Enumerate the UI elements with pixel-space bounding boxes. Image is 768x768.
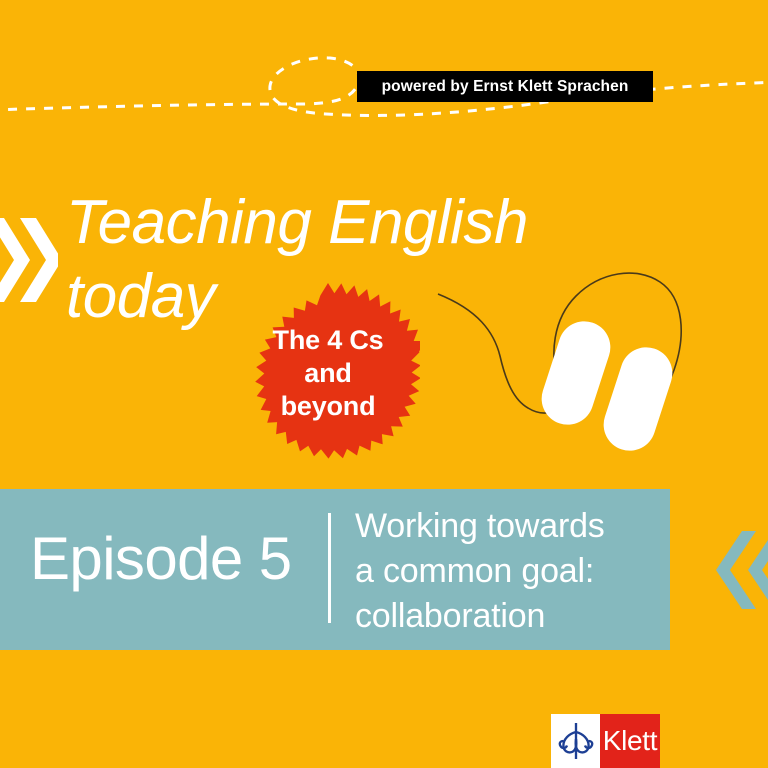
wireless-earbuds-illustration bbox=[428, 236, 698, 466]
episode-divider bbox=[328, 513, 331, 623]
episode-subtitle-line-3: collaboration bbox=[355, 594, 655, 639]
starburst-badge: The 4 Cs and beyond bbox=[236, 281, 420, 465]
powered-by-label: powered by Ernst Klett Sprachen bbox=[382, 78, 629, 96]
episode-band: Episode 5 Working towards a common goal:… bbox=[0, 489, 670, 650]
klett-logo: Klett bbox=[551, 714, 660, 768]
badge-line-3: beyond bbox=[281, 390, 376, 423]
double-chevron-right-icon bbox=[0, 212, 58, 308]
badge-line-1: The 4 Cs bbox=[273, 324, 384, 357]
podcast-cover-poster: powered by Ernst Klett Sprachen Teaching… bbox=[0, 0, 768, 768]
badge-line-2: and bbox=[304, 357, 351, 390]
episode-subtitle-line-1: Working towards bbox=[355, 504, 655, 549]
klett-mark-svg bbox=[558, 721, 594, 761]
klett-wordmark: Klett bbox=[600, 714, 660, 768]
episode-number: Episode 5 bbox=[30, 523, 291, 595]
episode-subtitle-line-2: a common goal: bbox=[355, 549, 655, 594]
episode-subtitle: Working towards a common goal: collabora… bbox=[355, 504, 655, 639]
powered-by-bar: powered by Ernst Klett Sprachen bbox=[357, 71, 653, 102]
badge-text: The 4 Cs and beyond bbox=[236, 281, 420, 465]
klett-word-label: Klett bbox=[603, 725, 658, 757]
klett-trefoil-mark-icon bbox=[551, 714, 600, 768]
double-chevron-left-icon bbox=[712, 527, 768, 613]
